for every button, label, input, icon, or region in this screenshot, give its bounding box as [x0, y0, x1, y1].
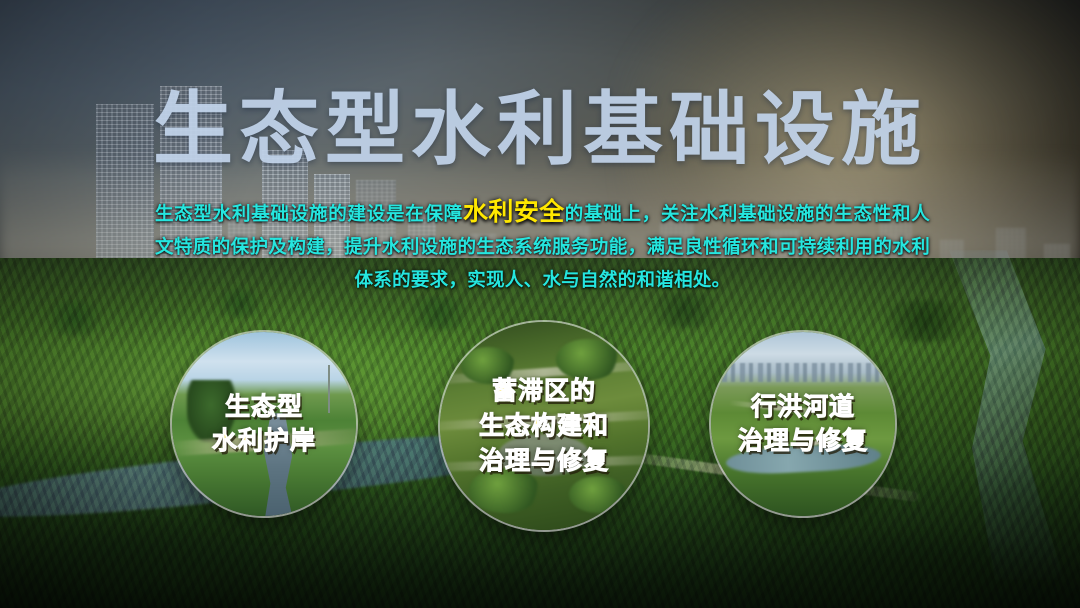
caption-line: 治理与修复: [738, 424, 868, 458]
circle-caption-detention-area: 蓄滞区的 生态构建和 治理与修复: [479, 374, 609, 479]
subtitle-paragraph: 生态型水利基础设施的建设是在保障水利安全的基础上，关注水利基础设施的生态性和人文…: [155, 196, 930, 296]
circle-caption-eco-revetment: 生态型 水利护岸: [212, 390, 316, 458]
circle-flood-channel[interactable]: 行洪河道 治理与修复: [711, 332, 895, 516]
power-pylon: [328, 365, 330, 413]
distant-skyline: [722, 363, 884, 381]
page-title: 生态型水利基础设施: [0, 86, 1080, 174]
subtitle-part-1: 生态型水利基础设施的建设是在保障: [155, 203, 463, 224]
caption-line: 蓄滞区的: [479, 374, 609, 409]
circle-eco-revetment[interactable]: 生态型 水利护岸: [172, 332, 356, 516]
shrub: [569, 476, 627, 513]
caption-line: 水利护岸: [212, 424, 316, 458]
caption-line: 生态型: [212, 390, 316, 424]
circle-caption-flood-channel: 行洪河道 治理与修复: [738, 390, 868, 458]
caption-line: 治理与修复: [479, 444, 609, 479]
subtitle-highlight: 水利安全: [463, 198, 565, 226]
slide-canvas: 生态型水利基础设施 生态型水利基础设施的建设是在保障水利安全的基础上，关注水利基…: [0, 0, 1080, 608]
caption-line: 生态构建和: [479, 409, 609, 444]
caption-line: 行洪河道: [738, 390, 868, 424]
circle-detention-area[interactable]: 蓄滞区的 生态构建和 治理与修复: [440, 322, 648, 530]
